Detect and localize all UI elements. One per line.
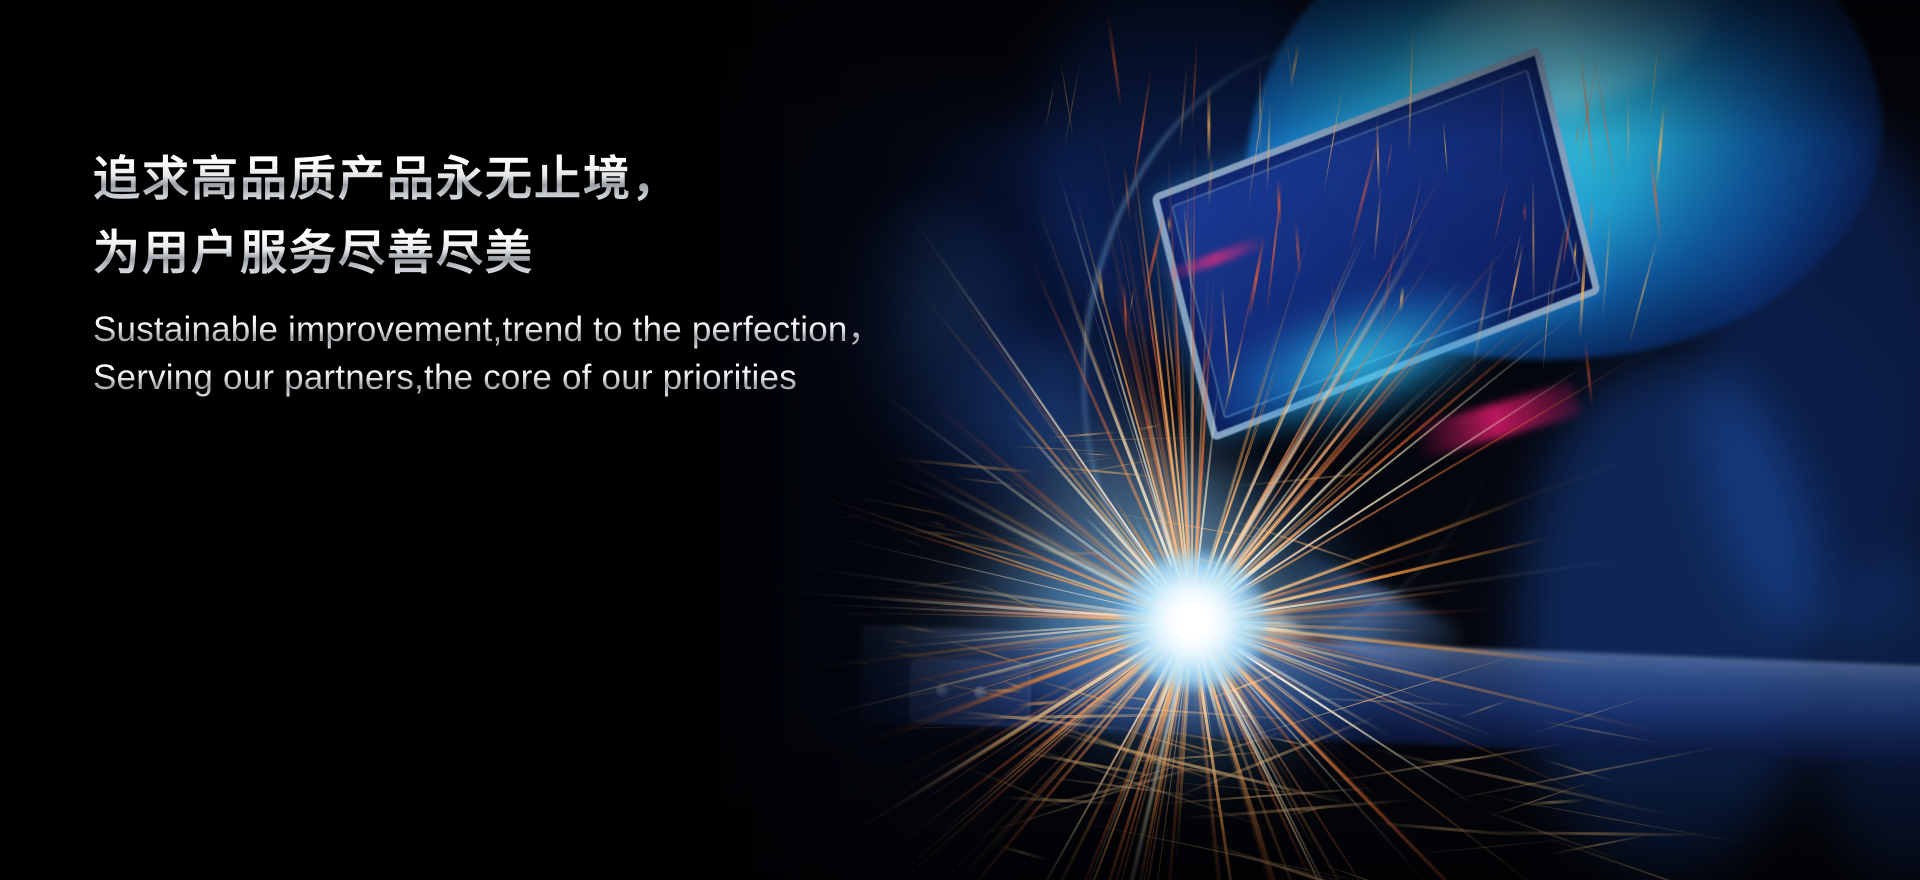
spark (1629, 237, 1659, 346)
spark (1627, 93, 1629, 169)
spark (1215, 162, 1449, 579)
spark (1602, 209, 1613, 321)
hero-banner: 追求高品质产品永无止境， 为用户服务尽善尽美 Sustainable impro… (0, 0, 1920, 880)
spark (999, 445, 1111, 453)
subtitle-line-1: Sustainable improvement,trend to the per… (93, 306, 1143, 354)
spark (1458, 698, 1512, 718)
subtitle-block: Sustainable improvement,trend to the per… (93, 306, 1143, 402)
spark (885, 638, 915, 645)
spark (1376, 118, 1380, 194)
spark (1233, 256, 1260, 379)
spark (998, 844, 1049, 861)
spark (1649, 35, 1660, 123)
spark (1322, 83, 1343, 197)
spark (1535, 719, 1660, 744)
spark (1590, 195, 1593, 237)
welding-photo (0, 0, 1920, 880)
headline-line-2: 为用户服务尽善尽美 (93, 216, 1143, 290)
spark (1579, 47, 1596, 183)
spark (896, 624, 941, 634)
headline-line-1: 追求高品质产品永无止境， (93, 142, 1143, 216)
spark (886, 726, 966, 729)
spark (1664, 96, 1669, 127)
spark (1059, 57, 1073, 138)
subtitle-line-2: Serving our partners,the core of our pri… (93, 354, 1143, 402)
spark (1408, 28, 1414, 153)
spark (1532, 177, 1535, 305)
spark (1583, 339, 1593, 408)
spark (1206, 239, 1446, 600)
spark (1247, 236, 1265, 321)
spark (1579, 237, 1587, 339)
spark (1499, 71, 1503, 183)
spark (1044, 79, 1056, 131)
spark (1079, 453, 1112, 456)
spark (1248, 76, 1268, 208)
spark (1179, 64, 1188, 154)
spark-layer (0, 0, 1920, 880)
spark (1385, 139, 1393, 181)
spark (1048, 552, 1111, 555)
spark (1493, 180, 1508, 246)
spark (1266, 102, 1271, 193)
spark (1191, 39, 1198, 128)
weld-arc-core (1118, 552, 1268, 690)
spark (1221, 283, 1232, 400)
banner-copy: 追求高品质产品永无止境， 为用户服务尽善尽美 Sustainable impro… (93, 142, 1143, 402)
spark (1546, 213, 1569, 324)
spark (1595, 58, 1617, 194)
spark (1655, 103, 1665, 190)
spark (1208, 86, 1211, 163)
spark (1524, 202, 1527, 222)
spark (1218, 223, 1430, 577)
spark (1294, 222, 1301, 276)
spark (1267, 184, 1283, 312)
spark (1373, 187, 1382, 263)
spark (1574, 124, 1581, 149)
spark (1106, 13, 1122, 109)
